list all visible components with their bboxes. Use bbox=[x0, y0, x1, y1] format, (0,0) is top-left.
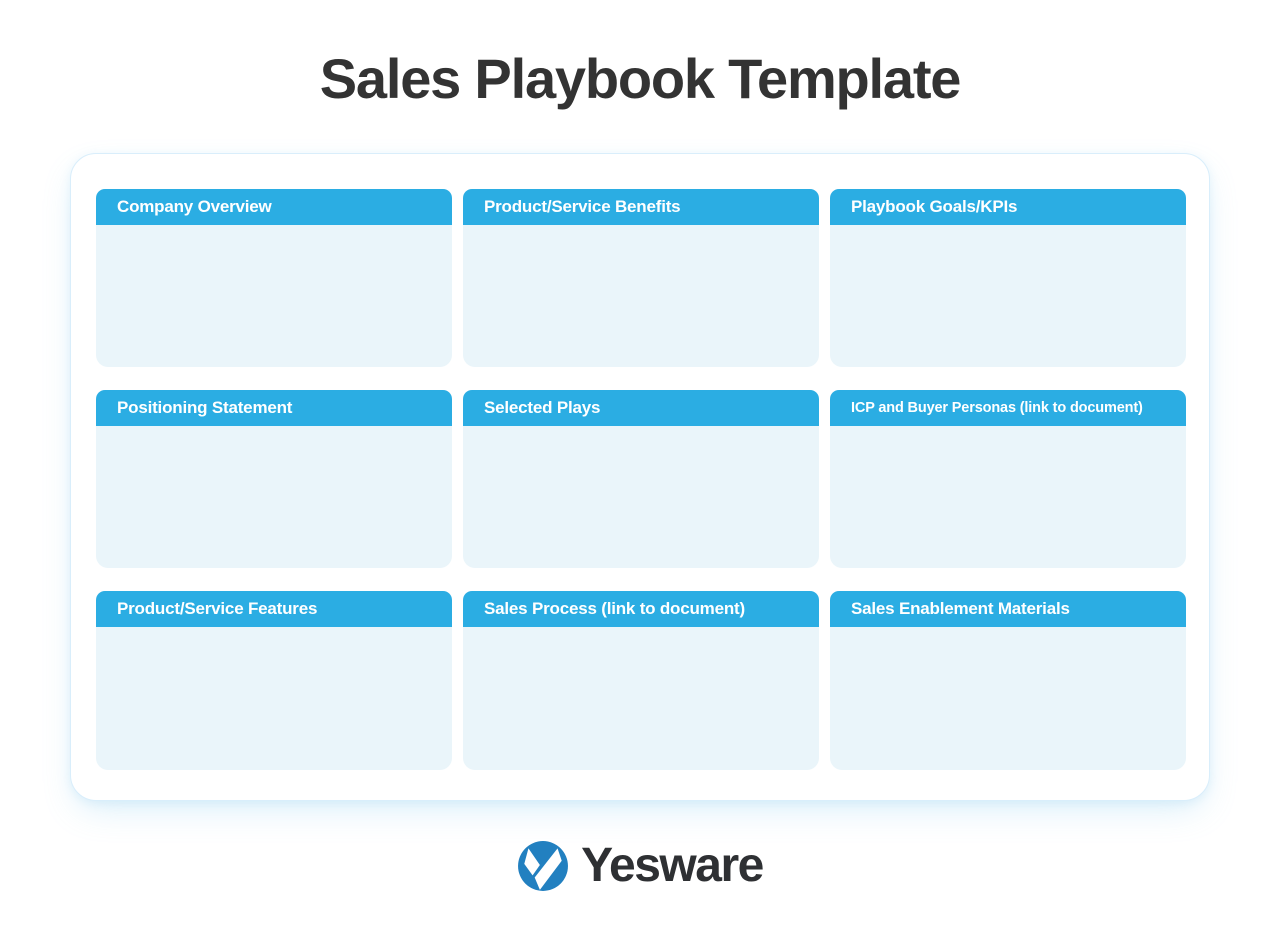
card-body-product-service-features[interactable] bbox=[96, 627, 452, 770]
playbook-card[interactable]: Sales Enablement Materials bbox=[830, 591, 1186, 770]
card-header-selected-plays[interactable]: Selected Plays bbox=[463, 390, 819, 426]
brand-footer: Yesware bbox=[0, 840, 1280, 892]
playbook-card[interactable]: Positioning Statement bbox=[96, 390, 452, 568]
playbook-card[interactable]: Sales Process (link to document) bbox=[463, 591, 819, 770]
card-body-icp-and-buyer-personas[interactable] bbox=[830, 426, 1186, 568]
card-body-sales-enablement-materials[interactable] bbox=[830, 627, 1186, 770]
card-header-company-overview[interactable]: Company Overview bbox=[96, 189, 452, 225]
card-body-product-service-benefits[interactable] bbox=[463, 225, 819, 367]
playbook-card[interactable]: Company Overview bbox=[96, 189, 452, 367]
yesware-y-mark-icon bbox=[517, 840, 569, 892]
card-body-company-overview[interactable] bbox=[96, 225, 452, 367]
card-header-icp-and-buyer-personas[interactable]: ICP and Buyer Personas (link to document… bbox=[830, 390, 1186, 426]
brand-wordmark: Yesware bbox=[581, 842, 763, 890]
playbook-card[interactable]: Product/Service Features bbox=[96, 591, 452, 770]
card-body-selected-plays[interactable] bbox=[463, 426, 819, 568]
playbook-card[interactable]: Product/Service Benefits bbox=[463, 189, 819, 367]
card-body-sales-process[interactable] bbox=[463, 627, 819, 770]
card-header-product-service-features[interactable]: Product/Service Features bbox=[96, 591, 452, 627]
playbook-card[interactable]: ICP and Buyer Personas (link to document… bbox=[830, 390, 1186, 568]
playbook-card[interactable]: Selected Plays bbox=[463, 390, 819, 568]
card-header-sales-enablement-materials[interactable]: Sales Enablement Materials bbox=[830, 591, 1186, 627]
playbook-card-grid: Company Overview Product/Service Benefit… bbox=[96, 189, 1186, 770]
card-header-positioning-statement[interactable]: Positioning Statement bbox=[96, 390, 452, 426]
playbook-card[interactable]: Playbook Goals/KPIs bbox=[830, 189, 1186, 367]
card-body-positioning-statement[interactable] bbox=[96, 426, 452, 568]
card-header-sales-process[interactable]: Sales Process (link to document) bbox=[463, 591, 819, 627]
card-header-product-service-benefits[interactable]: Product/Service Benefits bbox=[463, 189, 819, 225]
card-header-playbook-goals-kpis[interactable]: Playbook Goals/KPIs bbox=[830, 189, 1186, 225]
card-body-playbook-goals-kpis[interactable] bbox=[830, 225, 1186, 367]
playbook-board-panel: Company Overview Product/Service Benefit… bbox=[70, 153, 1210, 801]
page-title: Sales Playbook Template bbox=[0, 48, 1280, 110]
page-root: Sales Playbook Template Company Overview… bbox=[0, 0, 1280, 931]
